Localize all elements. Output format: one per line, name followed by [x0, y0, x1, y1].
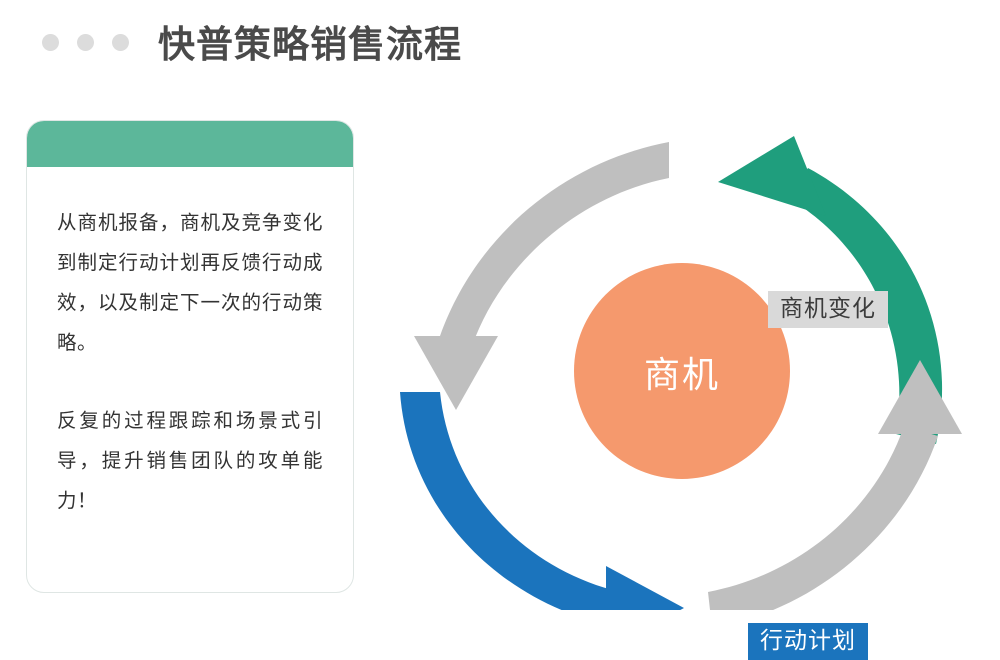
header-dot-3-icon — [112, 34, 129, 51]
info-card-accent-bar — [27, 121, 353, 167]
stage-label-action-plan: 行动计划 — [748, 623, 868, 660]
sales-process-cycle-diagram: 商机 商机变化 竞争变化 行动反馈 行动计划 — [370, 120, 990, 610]
center-circle-opportunity — [574, 263, 790, 479]
cycle-arrows-svg — [370, 120, 990, 610]
header-dot-1-icon — [42, 34, 59, 51]
header-dots-decoration — [42, 34, 129, 51]
stage-label-opportunity-change: 商机变化 — [768, 291, 888, 328]
info-card-body: 从商机报备，商机及竞争变化到制定行动计划再反馈行动成效，以及制定下一次的行动策略… — [27, 167, 353, 521]
header-dot-2-icon — [77, 34, 94, 51]
page-title: 快普策略销售流程 — [158, 14, 462, 68]
info-card-paragraph-2: 反复的过程跟踪和场景式引导，提升销售团队的攻单能力！ — [57, 401, 323, 521]
page-header: 快普策略销售流程 — [0, 0, 1000, 95]
info-card-paragraph-1: 从商机报备，商机及竞争变化到制定行动计划再反馈行动成效，以及制定下一次的行动策略… — [57, 203, 323, 363]
info-card: 从商机报备，商机及竞争变化到制定行动计划再反馈行动成效，以及制定下一次的行动策略… — [26, 120, 354, 593]
